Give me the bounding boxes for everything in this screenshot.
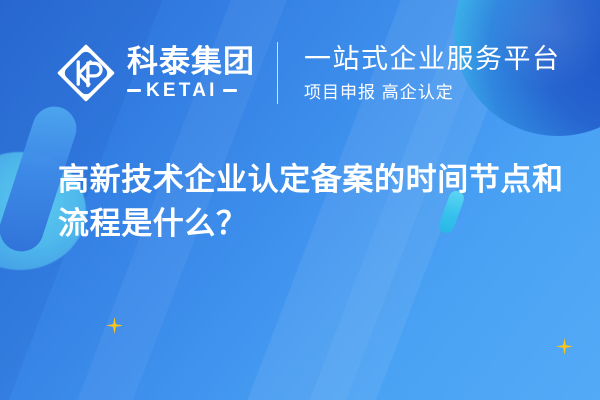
sparkle-star-left-icon bbox=[106, 317, 123, 334]
tagline: 一站式企业服务平台 项目申报 高企认定 bbox=[304, 44, 561, 103]
diagonal-stripe-2 bbox=[0, 0, 49, 400]
ketai-diamond-monogram-icon bbox=[55, 42, 117, 104]
diagonal-stripe-1 bbox=[0, 0, 25, 400]
tagline-sub: 项目申报 高企认定 bbox=[304, 83, 561, 103]
brand-wordmark: 科泰集团 KETAI bbox=[127, 46, 255, 101]
brand-name-cn: 科泰集团 bbox=[127, 46, 255, 78]
brand-name-en-row: KETAI bbox=[127, 81, 255, 100]
header-divider bbox=[277, 42, 278, 104]
dash-left-icon bbox=[127, 89, 141, 92]
dash-right-icon bbox=[223, 89, 237, 92]
sparkle-star-right-icon bbox=[556, 338, 573, 355]
brand-name-en: KETAI bbox=[146, 81, 218, 100]
brand-logo[interactable]: 科泰集团 KETAI bbox=[55, 42, 255, 104]
promo-banner: 科泰集团 KETAI 一站式企业服务平台 项目申报 高企认定 高新技术企业认定备… bbox=[0, 0, 600, 400]
page-title: 高新技术企业认定备案的时间节点和流程是什么？ bbox=[58, 158, 568, 246]
banner-header: 科泰集团 KETAI 一站式企业服务平台 项目申报 高企认定 bbox=[55, 42, 561, 104]
tagline-main: 一站式企业服务平台 bbox=[304, 44, 561, 75]
